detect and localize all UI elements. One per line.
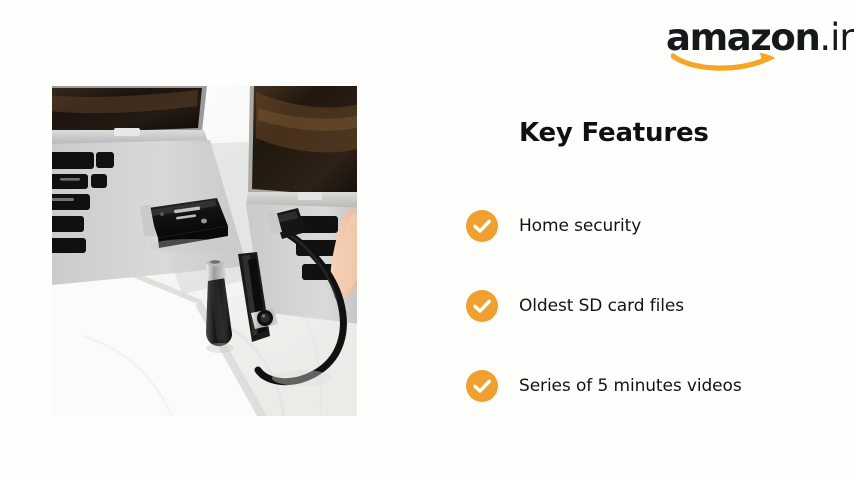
list-item: Home security — [466, 210, 826, 242]
features-list: Home security Oldest SD card files Serie… — [466, 210, 826, 402]
product-photo — [52, 86, 357, 416]
feature-label: Series of 5 minutes videos — [519, 376, 742, 396]
amazon-logo[interactable]: amazon.in — [666, 18, 818, 72]
check-circle-icon — [466, 290, 498, 322]
product-feature-slide: amazon.in — [0, 0, 854, 480]
page-title: Key Features — [519, 118, 826, 148]
feature-label: Oldest SD card files — [519, 296, 684, 316]
list-item: Oldest SD card files — [466, 290, 826, 322]
amazon-tld-text: .in — [819, 16, 854, 59]
amazon-smile-arrow-icon — [671, 51, 783, 73]
check-circle-icon — [466, 210, 498, 242]
feature-label: Home security — [519, 216, 641, 236]
features-panel: Key Features Home security Oldest SD car… — [466, 118, 826, 402]
check-circle-icon — [466, 370, 498, 402]
list-item: Series of 5 minutes videos — [466, 370, 826, 402]
product-photo-illustration — [52, 86, 357, 416]
